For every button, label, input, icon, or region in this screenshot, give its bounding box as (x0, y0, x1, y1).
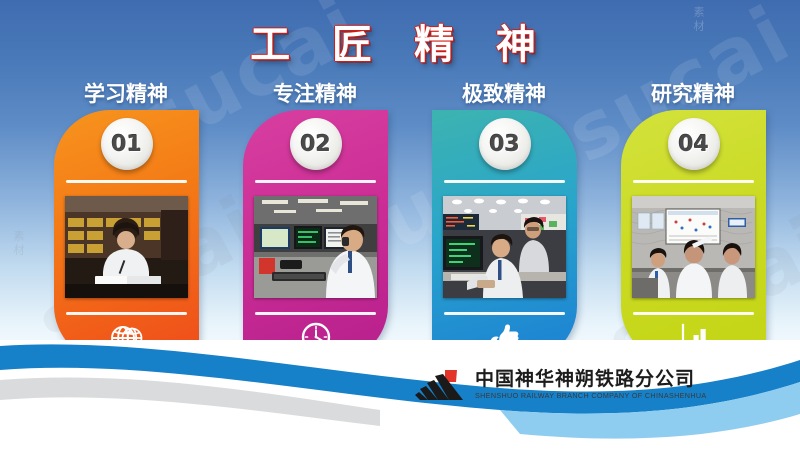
divider (66, 180, 187, 183)
poster-canvas: sucai sucai sucai sucai sucai sucai 素材 素… (0, 0, 800, 450)
divider (255, 180, 376, 183)
divider (633, 180, 754, 183)
card-number-badge: 01 (101, 118, 153, 170)
card-learning-spirit[interactable]: 01 (54, 110, 199, 362)
shenhua-mountain-logo-icon (415, 368, 467, 402)
page-title: 工 匠 精 神 (0, 12, 800, 70)
card-heading-3: 极致精神 (414, 78, 594, 108)
divider (255, 312, 376, 315)
card-photo-4 (632, 196, 755, 298)
company-name-cn: 中国神华神朔铁路分公司 (475, 370, 707, 390)
divider (444, 312, 565, 315)
card-number-badge: 02 (290, 118, 342, 170)
divider (633, 312, 754, 315)
divider (66, 312, 187, 315)
card-photo-3 (443, 196, 566, 298)
card-heading-2: 专注精神 (225, 78, 405, 108)
card-focus-spirit[interactable]: 02 (243, 110, 388, 362)
watermark-side-text: 素材 (10, 230, 26, 258)
divider (444, 180, 565, 183)
card-research-spirit[interactable]: 04 (621, 110, 766, 362)
card-heading-1: 学习精神 (36, 78, 216, 108)
card-number-badge: 03 (479, 118, 531, 170)
card-photo-2 (254, 196, 377, 298)
card-photo-1 (65, 196, 188, 298)
card-ultimate-spirit[interactable]: 03 (432, 110, 577, 362)
card-heading-4: 研究精神 (603, 78, 783, 108)
company-logo-block: 中国神华神朔铁路分公司 SHENSHUO RAILWAY BRANCH COMP… (415, 368, 707, 402)
company-name-en: SHENSHUO RAILWAY BRANCH COMPANY OF CHINA… (475, 391, 707, 400)
card-number-badge: 04 (668, 118, 720, 170)
